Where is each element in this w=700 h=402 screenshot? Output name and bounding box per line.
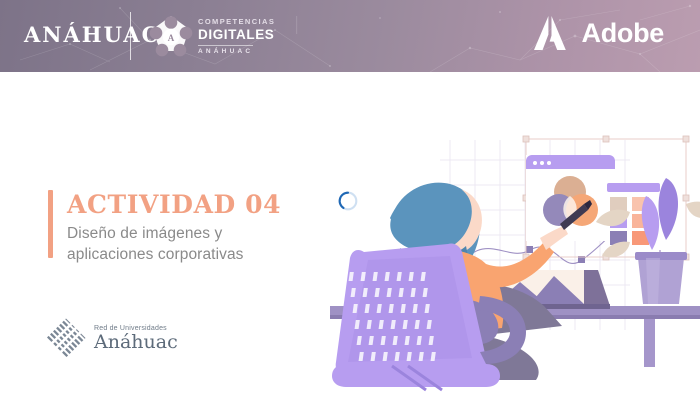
- footer-logo-line2: Anáhuac: [94, 333, 178, 352]
- title-accent-bar: [48, 190, 53, 258]
- header-divider: [130, 12, 131, 60]
- brand-anahuac-text: ANÁHUAC: [24, 22, 160, 47]
- adobe-wordmark: Adobe: [582, 18, 665, 49]
- svg-text:A: A: [168, 33, 175, 43]
- page-title: ACTIVIDAD 04: [67, 192, 281, 218]
- subtitle-line-1: Diseño de imágenes y: [67, 224, 281, 244]
- cd-line3: ANÁHUAC: [198, 45, 253, 56]
- slide-root: ANÁHUAC A COMPETENCIAS DIGITALES ANÁHUAC…: [0, 0, 700, 402]
- header-bar: ANÁHUAC A COMPETENCIAS DIGITALES ANÁHUAC…: [0, 0, 700, 72]
- title-block: ACTIVIDAD 04 Diseño de imágenes y aplica…: [48, 190, 281, 265]
- diamond-hatch-icon: [46, 318, 86, 358]
- browser-dots: [533, 161, 551, 165]
- competencias-digitales-logo: COMPETENCIAS DIGITALES ANÁHUAC: [198, 18, 275, 57]
- cd-line1: COMPETENCIAS: [198, 18, 275, 26]
- subtitle-line-2: aplicaciones corporativas: [67, 245, 281, 265]
- title-text-group: ACTIVIDAD 04 Diseño de imágenes y aplica…: [67, 190, 281, 265]
- browser-titlebar: [526, 155, 615, 169]
- adobe-logo: Adobe: [534, 16, 665, 50]
- adobe-a-icon: [534, 16, 572, 50]
- cd-line2: DIGITALES: [198, 28, 275, 42]
- red-universidades-logo: Red de Universidades Anáhuac: [46, 318, 178, 358]
- footer-logo-text: Red de Universidades Anáhuac: [94, 325, 178, 352]
- plant-pot: [638, 258, 684, 304]
- swatch-panel-header: [607, 183, 660, 192]
- designer-at-desk-illustration: [330, 100, 700, 402]
- pentagon-flower-icon: A: [148, 14, 194, 60]
- browser-mockup: [526, 155, 615, 241]
